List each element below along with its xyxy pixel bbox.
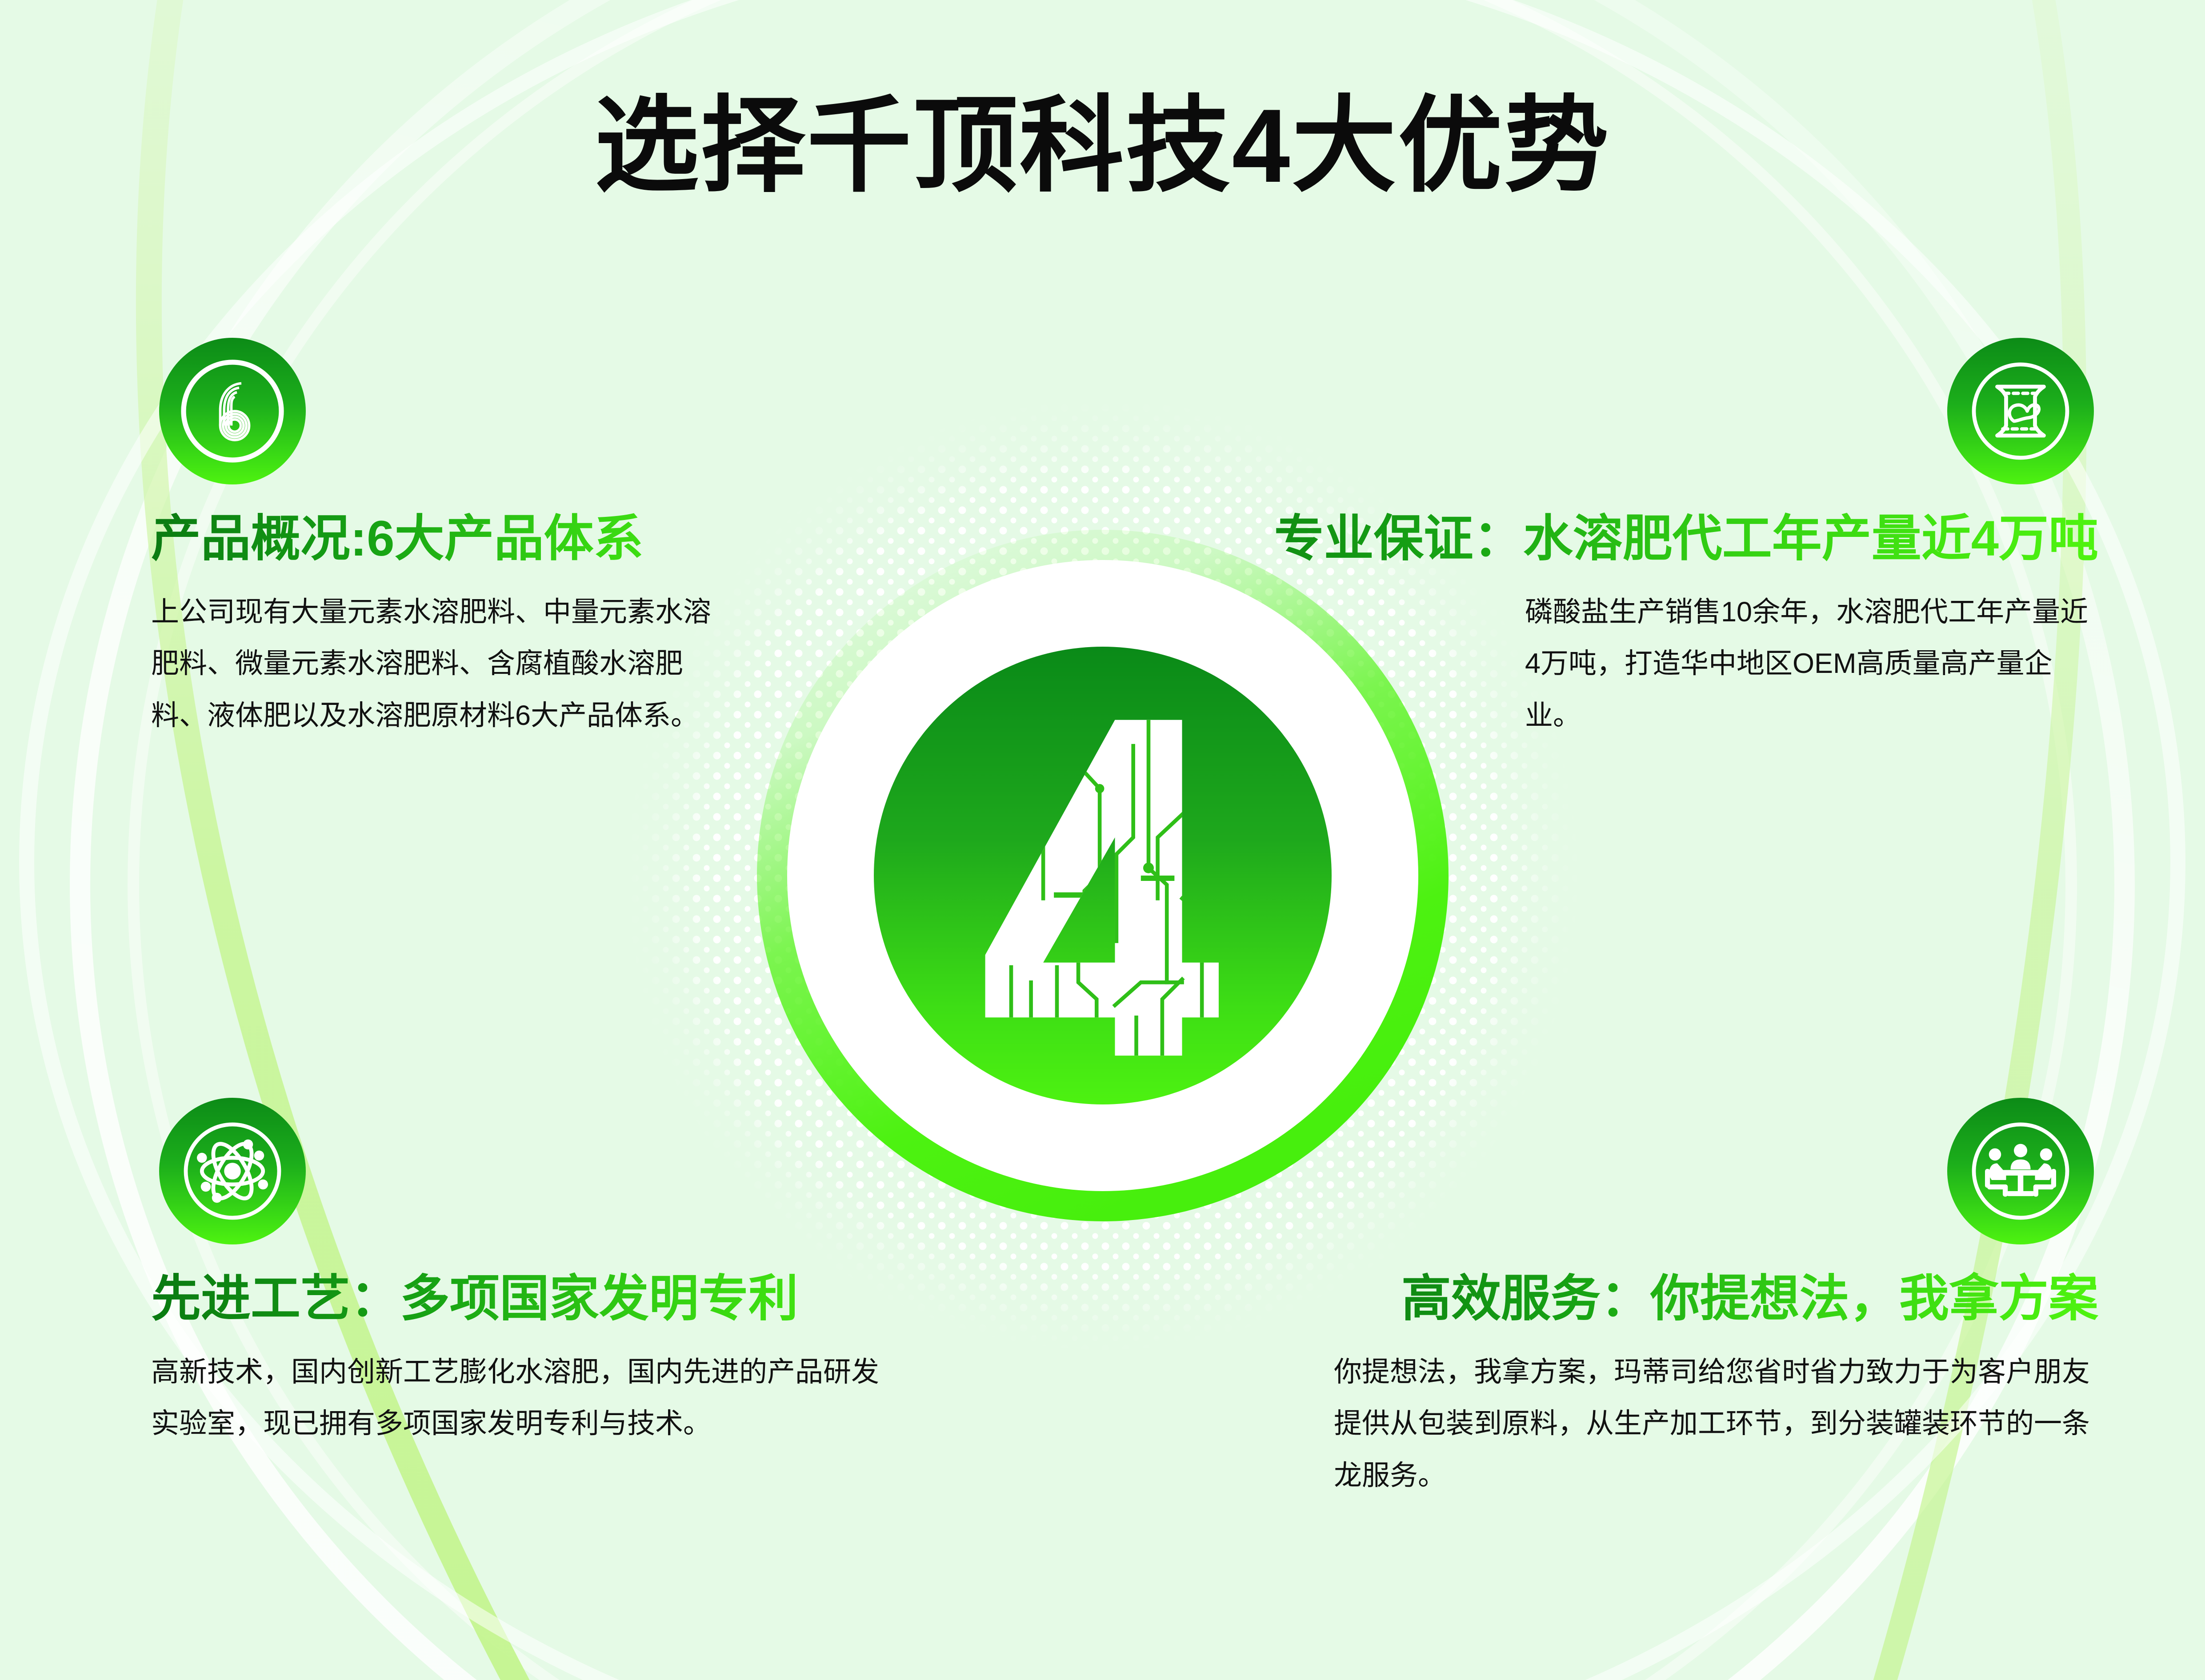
atom-glyph (177, 1116, 288, 1227)
number-six-spiral-glyph (177, 356, 288, 467)
atom-icon (159, 1098, 306, 1244)
fertilizer-bag-icon (1947, 338, 2094, 484)
meeting-table-icon (1947, 1098, 2094, 1244)
advantage-body: 上公司现有大量元素水溶肥料、中量元素水溶肥料、微量元素水溶肥料、含腐植酸水溶肥料… (151, 586, 729, 742)
meeting-table-glyph (1965, 1116, 2076, 1227)
advantage-heading: 先进工艺：多项国家发明专利 (151, 1270, 951, 1328)
advantage-card-top-right: 专业保证：水溶肥代工年产量近4万吨 磷酸盐生产销售10余年，水溶肥代工年产量近4… (1103, 338, 2098, 741)
advantage-card-bottom-left: 先进工艺：多项国家发明专利 高新技术，国内创新工艺膨化水溶肥，国内先进的产品研发… (151, 1098, 951, 1450)
advantage-heading: 专业保证：水溶肥代工年产量近4万吨 (1103, 510, 2098, 568)
fertilizer-bag-glyph (1965, 356, 2076, 467)
advantages-poster: 选择千顶科技4大优势 (0, 0, 2205, 1680)
advantage-heading: 高效服务：你提想法，我拿方案 (1298, 1270, 2098, 1328)
advantage-body: 磷酸盐生产销售10余年，水溶肥代工年产量近4万吨，打造华中地区OEM高质量高产量… (1525, 586, 2098, 742)
advantage-body: 高新技术，国内创新工艺膨化水溶肥，国内先进的产品研发实验室，现已拥有多项国家发明… (151, 1346, 907, 1450)
advantage-card-top-left: 产品概况:6大产品体系 上公司现有大量元素水溶肥料、中量元素水溶肥料、微量元素水… (151, 338, 796, 741)
page-title: 选择千顶科技4大优势 (0, 91, 2205, 201)
advantage-card-bottom-right: 高效服务：你提想法，我拿方案 你提想法，我拿方案，玛蒂司给您省时省力致力于为客户… (1298, 1098, 2098, 1501)
advantage-heading: 产品概况:6大产品体系 (151, 510, 796, 568)
number-six-spiral-icon (159, 338, 306, 484)
advantage-body: 你提想法，我拿方案，玛蒂司给您省时省力致力于为客户朋友提供从包装到原料，从生产加… (1334, 1346, 2098, 1502)
